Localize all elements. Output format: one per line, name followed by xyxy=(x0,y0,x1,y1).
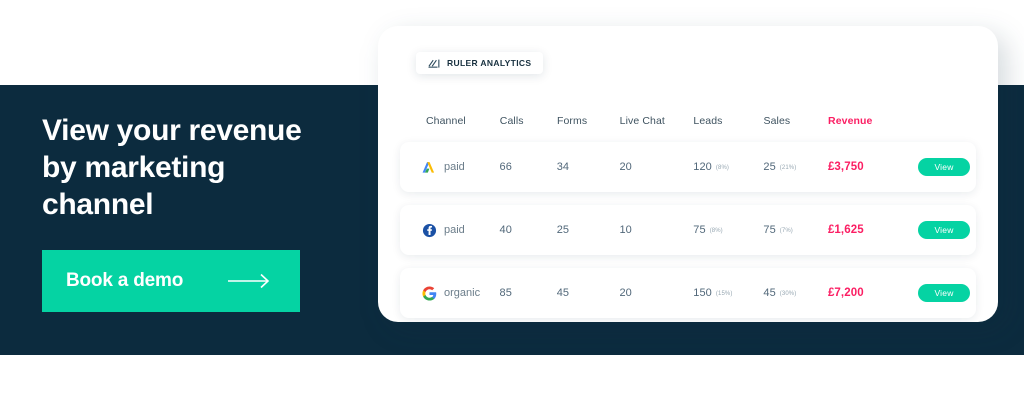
leads-value: 150 xyxy=(693,287,712,299)
ruler-analytics-mark-icon xyxy=(428,58,441,69)
cell-sales: 25(21%) xyxy=(763,161,828,173)
dashboard-card: RULER ANALYTICS Channel Calls Forms Live… xyxy=(378,26,998,322)
table-row[interactable]: organic 85 45 20 150(15%) 45(30%) £7,200… xyxy=(400,268,976,318)
cell-action: View xyxy=(905,158,970,176)
cell-forms: 25 xyxy=(557,224,620,236)
cell-action: View xyxy=(905,284,970,302)
cell-sales: 75(7%) xyxy=(763,224,828,236)
cell-live-chat: 20 xyxy=(619,161,693,173)
ruler-analytics-wordmark: RULER ANALYTICS xyxy=(447,58,531,68)
sales-percent: (21%) xyxy=(780,165,797,171)
cell-forms: 45 xyxy=(557,287,620,299)
google-ads-icon xyxy=(422,160,437,175)
channel-label: paid xyxy=(444,224,465,236)
cell-calls: 66 xyxy=(500,161,557,173)
cell-channel: paid xyxy=(400,160,500,175)
cell-calls: 85 xyxy=(500,287,557,299)
channel-label: paid xyxy=(444,161,465,173)
view-button[interactable]: View xyxy=(918,284,970,302)
sales-percent: (30%) xyxy=(780,291,797,297)
facebook-icon xyxy=(422,223,437,238)
cell-revenue: £3,750 xyxy=(828,161,906,173)
leads-value: 75 xyxy=(693,224,705,236)
cell-leads: 75(8%) xyxy=(693,224,763,236)
sales-value: 25 xyxy=(763,161,775,173)
column-header-leads: Leads xyxy=(693,115,763,127)
view-button[interactable]: View xyxy=(918,221,970,239)
page-title: View your revenue by marketing channel xyxy=(42,112,372,224)
promo-column: View your revenue by marketing channel B… xyxy=(42,112,372,312)
cell-leads: 120(8%) xyxy=(693,161,763,173)
table-row[interactable]: paid 40 25 10 75(8%) 75(7%) £1,625 View xyxy=(400,205,976,255)
view-button[interactable]: View xyxy=(918,158,970,176)
column-header-live-chat: Live Chat xyxy=(620,115,694,127)
sales-value: 75 xyxy=(763,224,775,236)
cell-revenue: £1,625 xyxy=(828,224,906,236)
column-header-forms: Forms xyxy=(557,115,620,127)
cta-label: Book a demo xyxy=(66,270,183,292)
cell-forms: 34 xyxy=(557,161,620,173)
cell-action: View xyxy=(905,221,970,239)
cell-calls: 40 xyxy=(500,224,557,236)
leads-value: 120 xyxy=(693,161,712,173)
leads-percent: (15%) xyxy=(716,291,733,297)
cell-sales: 45(30%) xyxy=(763,287,828,299)
leads-percent: (8%) xyxy=(716,165,729,171)
book-a-demo-button[interactable]: Book a demo xyxy=(42,250,300,312)
cell-leads: 150(15%) xyxy=(693,287,763,299)
column-header-revenue: Revenue xyxy=(828,115,905,127)
ruler-analytics-logo: RULER ANALYTICS xyxy=(416,52,543,74)
cell-channel: paid xyxy=(400,223,500,238)
column-header-sales: Sales xyxy=(763,115,828,127)
channel-label: organic xyxy=(444,287,480,299)
google-icon xyxy=(422,286,437,301)
table-row[interactable]: paid 66 34 20 120(8%) 25(21%) £3,750 Vie… xyxy=(400,142,976,192)
channel-performance-table: Channel Calls Forms Live Chat Leads Sale… xyxy=(378,108,998,322)
cell-live-chat: 10 xyxy=(619,224,693,236)
sales-percent: (7%) xyxy=(780,228,793,234)
table-header-row: Channel Calls Forms Live Chat Leads Sale… xyxy=(378,108,998,134)
column-header-calls: Calls xyxy=(500,115,557,127)
leads-percent: (8%) xyxy=(710,228,723,234)
cell-channel: organic xyxy=(400,286,500,301)
arrow-right-icon xyxy=(228,273,274,289)
column-header-channel: Channel xyxy=(400,115,500,127)
cell-live-chat: 20 xyxy=(619,287,693,299)
sales-value: 45 xyxy=(763,287,775,299)
cell-revenue: £7,200 xyxy=(828,287,906,299)
